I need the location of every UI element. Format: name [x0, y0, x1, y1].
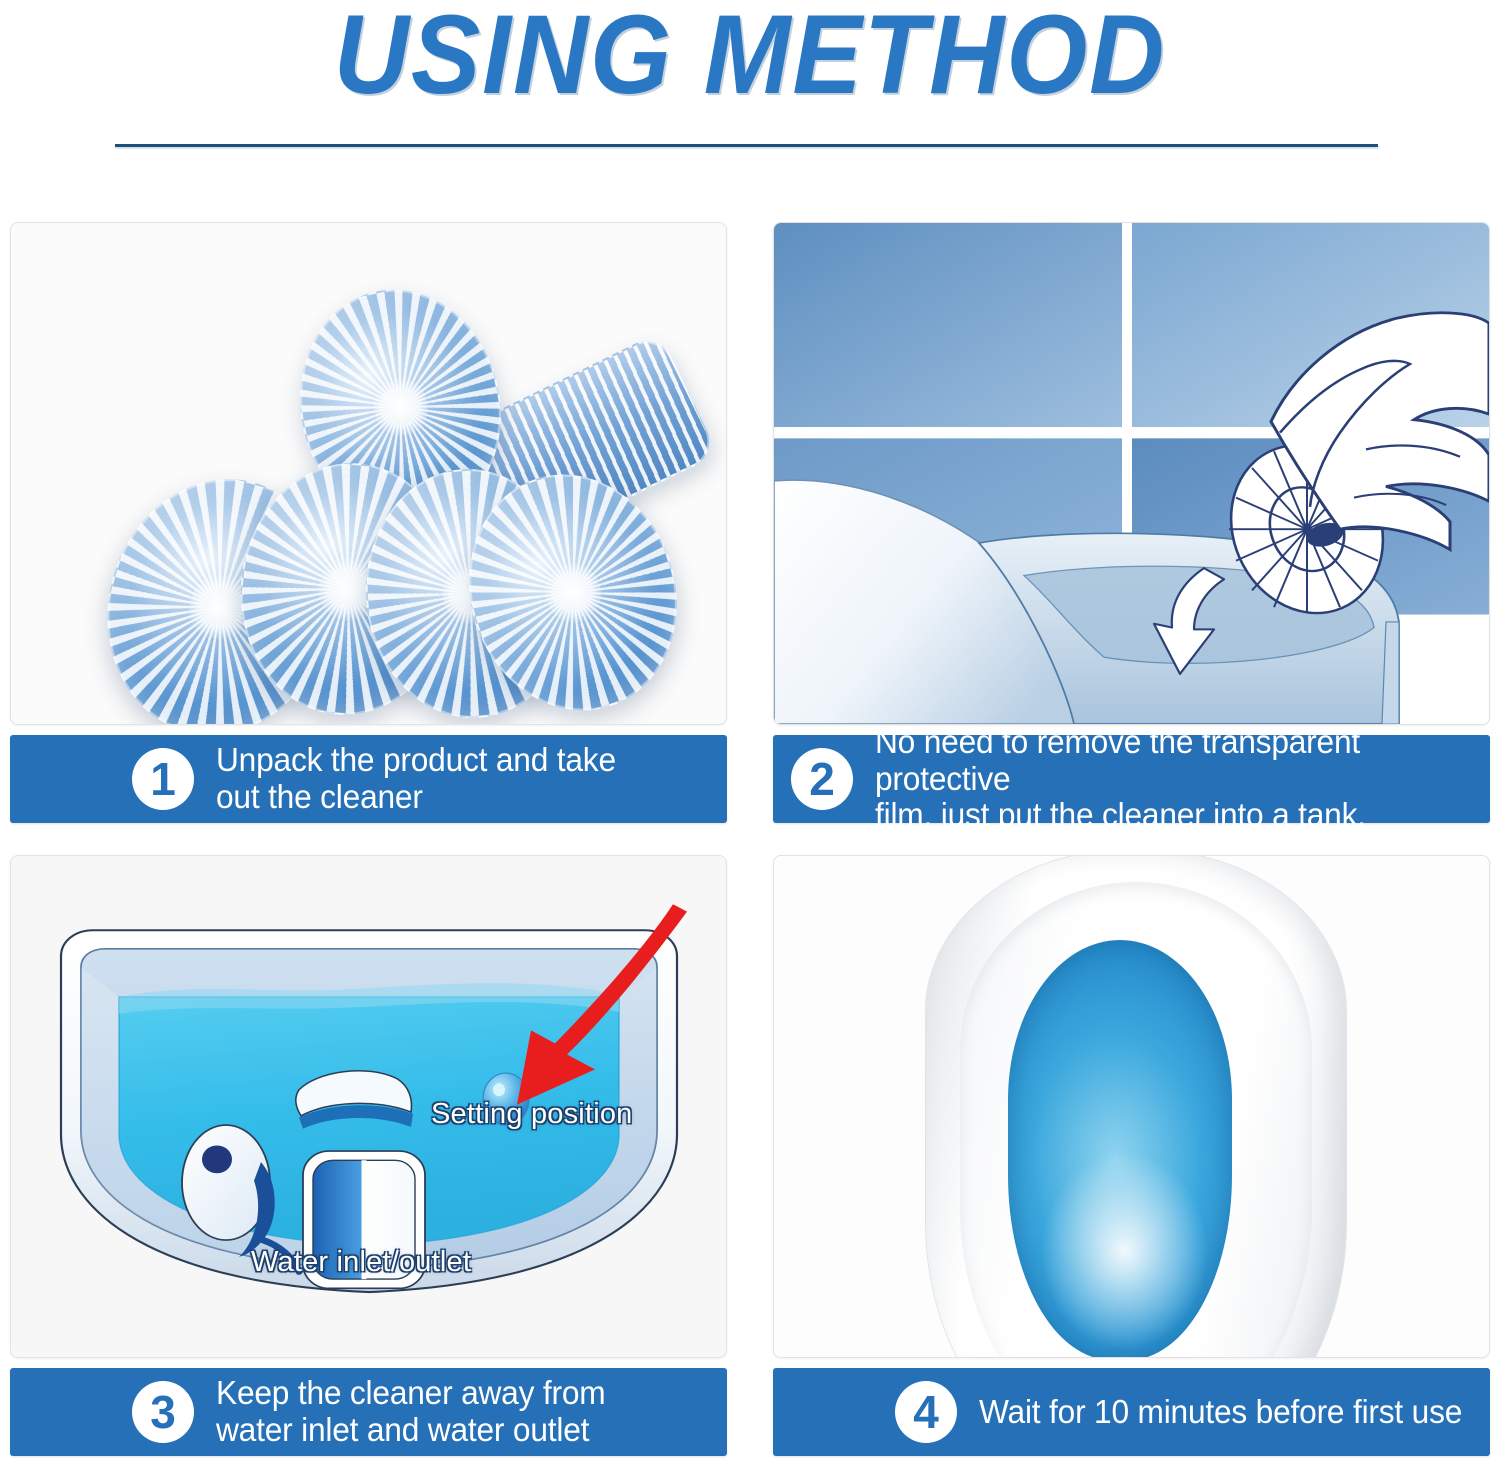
toilet-bowl-blue-water-photo	[774, 856, 1489, 1357]
step-3-image: Setting position Water inlet/outlet	[10, 855, 727, 1358]
step-2-image	[773, 222, 1490, 725]
page-header: USING METHOD	[0, 0, 1500, 200]
step-4-image	[773, 855, 1490, 1358]
step-1-caption-bar: 1 Unpack the product and take out the cl…	[10, 735, 727, 823]
cleaner-tablets-photo	[11, 223, 726, 724]
step-card-1: 1 Unpack the product and take out the cl…	[0, 200, 737, 833]
step-4-caption-bar: 4 Wait for 10 minutes before first use	[773, 1368, 1490, 1456]
tank-drop-line-art-svg	[774, 223, 1489, 724]
hand-dropping-cleaner-illustration	[774, 223, 1489, 724]
step-card-3: Setting position Water inlet/outlet 3 Ke…	[0, 833, 737, 1466]
step-card-4: 4 Wait for 10 minutes before first use	[763, 833, 1500, 1466]
label-water-inlet-outlet: Water inlet/outlet	[251, 1246, 471, 1279]
step-number-badge-3: 3	[132, 1381, 194, 1443]
title-divider	[115, 144, 1378, 147]
step-number-badge-1: 1	[132, 748, 194, 810]
step-number-badge-2: 2	[791, 748, 853, 810]
page-title: USING METHOD	[53, 0, 1448, 114]
step-1-caption-text: Unpack the product and take out the clea…	[216, 742, 616, 816]
step-3-caption-bar: 3 Keep the cleaner away from water inlet…	[10, 1368, 727, 1456]
toilet-tank-diagram: Setting position Water inlet/outlet	[11, 856, 726, 1357]
step-1-image	[10, 222, 727, 725]
step-4-caption-text: Wait for 10 minutes before first use	[979, 1394, 1462, 1431]
step-2-caption-bar: 2 No need to remove the transparent prot…	[773, 735, 1490, 823]
label-setting-position: Setting position	[431, 1098, 633, 1131]
step-2-caption-text: No need to remove the transparent protec…	[875, 724, 1465, 835]
step-3-caption-text: Keep the cleaner away from water inlet a…	[216, 1375, 605, 1449]
step-card-2: 2 No need to remove the transparent prot…	[763, 200, 1500, 833]
steps-grid: 1 Unpack the product and take out the cl…	[0, 200, 1500, 1466]
blue-water	[1008, 940, 1232, 1358]
step-number-badge-4: 4	[895, 1381, 957, 1443]
